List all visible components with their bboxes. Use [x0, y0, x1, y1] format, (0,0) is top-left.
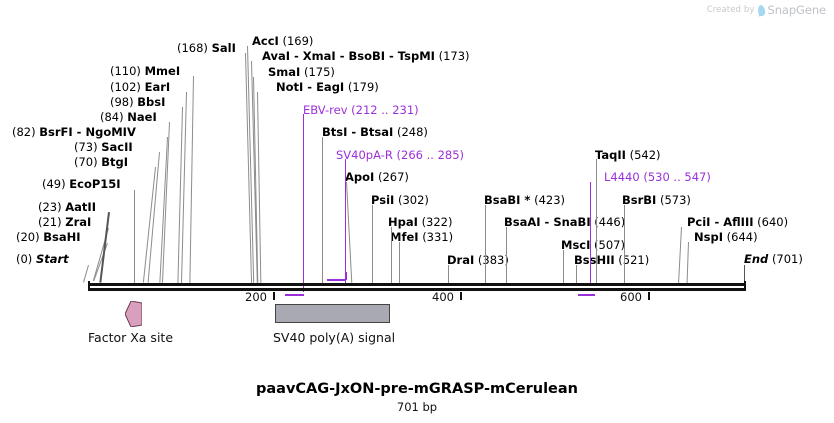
label-sacii[interactable]: (73) SacII: [74, 141, 133, 153]
leader-line-btsi: [322, 137, 323, 283]
ruler-label-600: 600: [620, 290, 642, 304]
leader-line-l4440: [590, 182, 591, 283]
label-aatii[interactable]: (23) AatII: [38, 201, 96, 213]
leader-line-drai: [448, 265, 449, 283]
label-mmei[interactable]: (110) MmeI: [110, 65, 180, 77]
label-end[interactable]: End (701): [744, 253, 803, 265]
label-bsrbi[interactable]: BsrBI (573): [622, 194, 691, 206]
label-bsabi[interactable]: BsaBI * (423): [484, 194, 565, 206]
watermark-brand-label: SnapGene: [768, 3, 827, 17]
leader-line-apoi: [346, 182, 352, 283]
primer-bracket-ebv-rev: [285, 294, 304, 296]
label-smai[interactable]: SmaI (175): [268, 66, 335, 78]
sequence-backbone-bottom: [88, 288, 745, 291]
leader-line-start: [83, 265, 89, 283]
leader-line-nspi: [687, 242, 689, 283]
label-avai-xmai-bsobi-tspmi[interactable]: AvaI - XmaI - BsoBI - TspMI (173): [262, 50, 470, 62]
leader-line-bsrbi: [624, 205, 625, 283]
leader-line-psii: [372, 205, 373, 283]
snapgene-linear-map: Created by SnapGene (168) SalI (110) Mme…: [0, 0, 834, 423]
label-ecop15i[interactable]: (49) EcoP15I: [42, 178, 121, 190]
ruler-label-200: 200: [245, 290, 267, 304]
snapgene-logo-icon: [757, 4, 766, 16]
label-taqii[interactable]: TaqII (542): [595, 149, 661, 161]
label-eari[interactable]: (102) EarI: [110, 81, 170, 93]
label-bsaai-snabi[interactable]: BsaAI - SnaBI (446): [504, 216, 625, 228]
primer-bracket-l4440: [578, 294, 595, 296]
ruler-tick-400: [460, 292, 462, 300]
label-bsahi[interactable]: (20) BsaHI: [16, 231, 81, 243]
sequence-backbone-top: [88, 283, 745, 286]
leader-line-bsaai: [506, 227, 507, 283]
label-apoi[interactable]: ApoI (267): [345, 171, 409, 183]
leader-line-bsabi: [485, 205, 486, 283]
label-sali[interactable]: (168) SalI: [177, 42, 236, 54]
map-title: paavCAG-JxON-pre-mGRASP-mCerulean: [0, 381, 834, 397]
leader-line-ebv-rev: [303, 114, 304, 292]
leader-line-ecop15i: [134, 190, 135, 283]
map-subtitle: 701 bp: [0, 400, 834, 414]
label-acci[interactable]: AccI (169): [252, 35, 313, 47]
label-psii[interactable]: PsiI (302): [371, 194, 429, 206]
label-msci[interactable]: MscI (507): [561, 239, 625, 251]
primer-stem-sv40pa-r: [345, 272, 347, 280]
leader-line-sv40pa-r: [345, 159, 346, 283]
label-start[interactable]: (0) Start: [16, 253, 69, 265]
label-bbsi[interactable]: (98) BbsI: [110, 96, 165, 108]
ruler-label-400: 400: [432, 290, 454, 304]
factor-xa-arrow-icon[interactable]: [125, 301, 142, 327]
label-primer-sv40pa-r[interactable]: SV40pA-R (266 .. 285): [336, 149, 464, 161]
label-drai[interactable]: DraI (383): [447, 254, 509, 266]
leader-line-bsshii: [576, 265, 577, 283]
leader-line-hpai: [391, 227, 392, 283]
ruler-tick-200: [273, 292, 275, 300]
label-primer-ebv-rev[interactable]: EBV-rev (212 .. 231): [303, 104, 419, 116]
label-bsrfi-ngomiv[interactable]: (82) BsrFI - NgoMIV: [12, 126, 136, 138]
label-zrai[interactable]: (21) ZraI: [38, 216, 91, 228]
label-bsshii[interactable]: BssHII (521): [574, 254, 649, 266]
snapgene-watermark: Created by SnapGene: [707, 3, 826, 17]
feature-sv40-polya-box[interactable]: [275, 304, 390, 323]
feature-label-factor-xa: Factor Xa site: [88, 330, 173, 345]
ruler-tick-600: [648, 292, 650, 300]
leader-line-mfei: [399, 242, 400, 283]
leader-line-aatii: [99, 212, 110, 283]
label-btsi-btsai[interactable]: BtsI - BtsaI (248): [322, 126, 428, 138]
backbone-end-cap: [744, 281, 746, 291]
label-pcii-aflIII[interactable]: PciI - AflIII (640): [687, 216, 788, 228]
leader-line-msci: [563, 250, 564, 283]
watermark-created-label: Created by: [707, 5, 755, 15]
feature-label-sv40-polya: SV40 poly(A) signal: [273, 330, 395, 345]
leader-line-mmei: [189, 76, 194, 283]
primer-bracket-sv40pa-r: [327, 279, 346, 281]
leader-line-taqii: [596, 159, 597, 283]
label-btgi[interactable]: (70) BtgI: [74, 156, 128, 168]
label-nspi[interactable]: NspI (644): [694, 231, 758, 243]
label-primer-l4440[interactable]: L4440 (530 .. 547): [604, 171, 711, 183]
label-hpai[interactable]: HpaI (322): [388, 216, 453, 228]
label-naei[interactable]: (84) NaeI: [100, 111, 157, 123]
label-noti-eagi[interactable]: NotI - EagI (179): [276, 81, 379, 93]
backbone-start-cap: [88, 281, 90, 291]
leader-line-pcii: [678, 227, 682, 283]
